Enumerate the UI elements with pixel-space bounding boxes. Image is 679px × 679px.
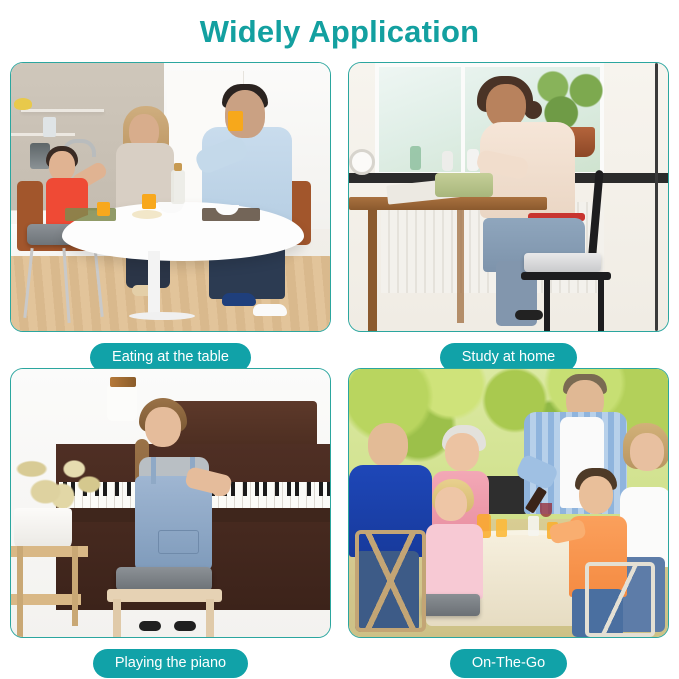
scene-illustration-eating-at-the-table (11, 63, 330, 331)
photo-eating-at-the-table (10, 62, 331, 332)
scene-illustration-playing-the-piano (11, 369, 330, 637)
photo-on-the-go (348, 368, 669, 638)
photo-study-at-home (348, 62, 669, 332)
caption-pill-on-the-go: On-The-Go (450, 649, 567, 678)
application-card-playing-the-piano: Playing the piano (10, 368, 331, 679)
application-card-eating-at-the-table: Eating at the table (10, 62, 331, 374)
caption-pill-playing-the-piano: Playing the piano (93, 649, 248, 678)
product-infographic: Widely Application (0, 0, 679, 679)
page-title: Widely Application (0, 14, 679, 50)
caption-row: On-The-Go (348, 646, 669, 679)
application-card-study-at-home: Study at home (348, 62, 669, 374)
photo-playing-the-piano (10, 368, 331, 638)
application-card-on-the-go: On-The-Go (348, 368, 669, 679)
caption-row: Playing the piano (10, 646, 331, 679)
scene-illustration-study-at-home (349, 63, 668, 331)
scene-illustration-on-the-go (349, 369, 668, 637)
application-grid: Eating at the table (10, 62, 669, 672)
